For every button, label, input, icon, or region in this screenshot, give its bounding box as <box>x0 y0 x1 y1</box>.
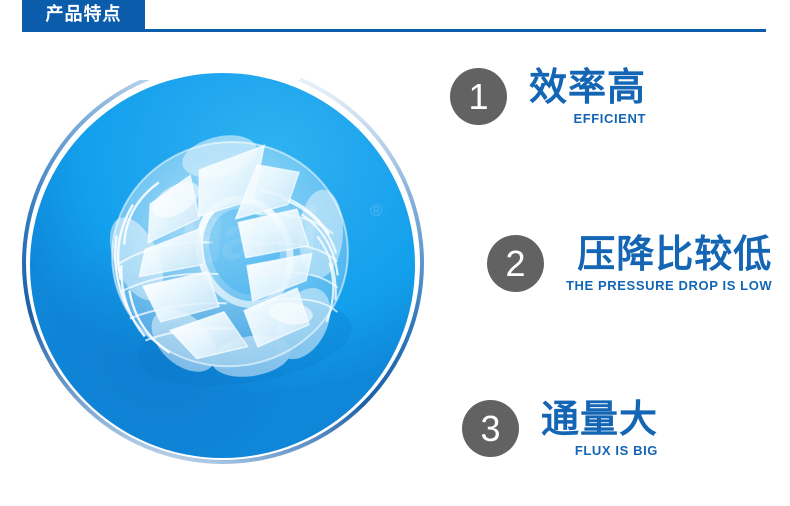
feature-title-3: 通量大 <box>541 400 658 440</box>
product-photo-circle: Haiyi ® <box>30 73 415 458</box>
feature-item-3: 3 通量大 FLUX IS BIG <box>462 400 658 458</box>
ring-gap-mask <box>0 40 300 80</box>
feature-item-1: 1 效率高 EFFICIENT <box>450 68 646 126</box>
hollow-ball-packing-illustration <box>67 107 384 415</box>
feature-list: 1 效率高 EFFICIENT 2 压降比较低 THE PRESSURE DRO… <box>440 40 790 506</box>
feature-number-badge-3: 3 <box>462 400 519 457</box>
feature-number-badge-1: 1 <box>450 68 507 125</box>
section-title-tab: 产品特点 <box>22 0 145 29</box>
feature-text-block-1: 效率高 EFFICIENT <box>529 68 646 126</box>
feature-subtitle-3: FLUX IS BIG <box>575 443 658 458</box>
feature-number-badge-2: 2 <box>487 235 544 292</box>
feature-item-2: 2 压降比较低 THE PRESSURE DROP IS LOW <box>487 235 772 293</box>
feature-title-1: 效率高 <box>529 68 646 108</box>
header-divider-rule <box>22 29 766 32</box>
feature-subtitle-1: EFFICIENT <box>573 111 646 126</box>
product-image-panel: Haiyi ® <box>0 40 440 506</box>
page-header: 产品特点 <box>0 0 790 40</box>
watermark-registered-icon: ® <box>370 201 383 221</box>
feature-subtitle-2: THE PRESSURE DROP IS LOW <box>566 278 772 293</box>
feature-text-block-3: 通量大 FLUX IS BIG <box>541 400 658 458</box>
section-title-label: 产品特点 <box>46 6 122 24</box>
feature-text-block-2: 压降比较低 THE PRESSURE DROP IS LOW <box>566 235 772 293</box>
feature-title-2: 压降比较低 <box>577 235 772 275</box>
